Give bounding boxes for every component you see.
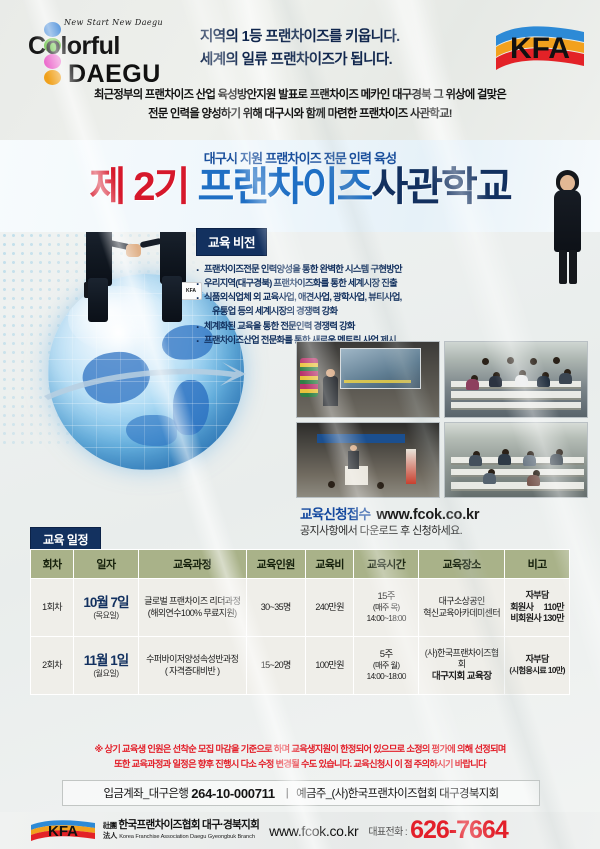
poster-footer: KFA 社團한국프랜차이즈협회 대구·경북지회 法人Korea Franchis… [0,812,600,849]
vision-item-continuation: 유통업 등의 세계시장의 경쟁력 강화 [196,304,536,318]
cell-note: 자부담 (시험응시료 10만) [505,637,570,695]
bank-account-box: 입금계좌_대구은행 264-10-000711 | 예금주_(사)한국프랜차이즈… [62,780,540,806]
course-line-2: (해외연수100% 무료지원) [142,608,243,620]
slogan-line-2: 세계의 일류 프랜차이즈가 됩니다. [200,49,490,72]
cell-fee: 240만원 [305,579,354,637]
photo-lecture-speaker [296,341,440,418]
col-round: 회차 [31,550,74,579]
time-hours: 14:00~18:00 [357,672,415,683]
place-line-2-text: 대구지회 교육장 [432,671,492,682]
cell-round: 2회차 [31,637,74,695]
slogan-line-1: 지역의 1등 프랜차이즈를 키웁니다. [200,26,490,49]
poster-root: New Start New Daegu Colorful DAEGU KFA 지… [0,0,600,849]
cell-date: 11월 1일 (월요일) [74,637,139,695]
education-vision-block: 교육 비전 프랜차이즈전문 인력양성을 통한 완벽한 시스템 구현방안 우리지역… [196,228,536,347]
footer-organization: 社團한국프랜차이즈협회 대구·경북지회 法人Korea Franchise As… [103,820,259,840]
note-line-2: 비회원사 130만 [508,613,566,625]
title-part-blue: 프랜차이즈 [197,165,371,209]
date-sub: (목요일) [77,611,135,622]
cell-fee: 100만원 [305,637,354,695]
svg-text:KFA: KFA [510,32,570,65]
cell-course: 수퍼바이저양성속성반과정 ( 자격증대비반 ) [138,637,246,695]
time-hours: 14:00~18:00 [357,614,415,625]
col-time: 교육시간 [354,550,419,579]
time-main: 15주 [357,591,415,603]
date-main: 10월 7일 [77,594,135,611]
bank-label: 입금계좌_대구은행 [103,785,188,801]
header-slogan: 지역의 1등 프랜차이즈를 키웁니다. 세계의 일류 프랜차이즈가 됩니다. [200,26,490,73]
notice-line-2: 또한 교육과정과 일정은 향후 진행시 다소 수정 변경될 수도 있습니다. 교… [24,757,576,772]
table-header-row: 회차 일자 교육과정 교육인원 교육비 교육시간 교육장소 비고 [31,550,570,579]
footer-org-korean: 社團한국프랜차이즈협회 대구·경북지회 [103,820,259,832]
colorful-daegu-logo: New Start New Daegu Colorful DAEGU [16,18,166,86]
note-main: 자부담 [508,654,566,666]
apply-note: 공지사항에서 다운로드 후 신청하세요. [300,522,462,538]
col-note: 비고 [505,550,570,579]
daegu-tagline: New Start New Daegu [64,18,163,27]
title-part-red: 제 2기 [89,165,188,209]
photo-classroom-wide [444,422,588,499]
apply-url[interactable]: www.fcok.co.kr [376,507,479,523]
vision-item: 우리지역(대구경북) 프랜차이즈화를 통한 세계시장 진출 [196,276,536,290]
daegu-logo-colorful: Colorful [28,32,120,61]
account-holder: 예금주_(사)한국프랜차이즈협회 대구경북지회 [296,785,498,801]
cell-note: 자부담 회원사 110만 비회원사 130만 [505,579,570,637]
place-line-1: 대구소상공인 [422,596,501,608]
note-line-1: (시험응시료 10만) [508,666,566,677]
footer-hanja-1: 社團 [103,821,116,830]
table-row: 1회차 10월 7일 (목요일) 글로벌 프랜차이즈 리더과정 (해외연수100… [31,579,570,637]
kfa-logo-footer-icon: KFA [30,818,96,844]
date-main: 11월 1일 [77,652,135,669]
vision-list: 프랜차이즈전문 인력양성을 통한 완벽한 시스템 구현방안 우리지역(대구경북)… [196,262,536,347]
place-line-2: 대구지회 교육장 [422,671,501,683]
place-line-2: 혁신교육아카데미센터 [422,608,501,620]
course-line-1: 글로벌 프랜차이즈 리더과정 [142,596,243,608]
date-sub: (월요일) [77,669,135,680]
cell-people: 15~20명 [246,637,305,695]
table-row: 2회차 11월 1일 (월요일) 수퍼바이저양성속성반과정 ( 자격증대비반 )… [31,637,570,695]
daegu-logo-daegu: DAEGU [68,60,161,89]
notice-text: ※ 상기 교육생 인원은 선착순 모집 마감을 기준으로 하며 교육생지원이 한… [24,742,576,772]
footer-org-en-text: Korea Franchise Association Daegu Gyeong… [119,834,255,840]
col-place: 교육장소 [419,550,505,579]
footer-url[interactable]: www.fcok.co.kr [269,823,358,839]
note-line-1: 회원사 110만 [508,602,566,614]
application-line: 교육신청접수www.fcok.co.kr [300,503,479,524]
schedule-table: 회차 일자 교육과정 교육인원 교육비 교육시간 교육장소 비고 1회차 10월… [30,549,570,695]
kfa-logo-icon: KFA [494,20,586,78]
svg-text:KFA: KFA [48,823,78,840]
footer-org-kr-text: 한국프랜차이즈협회 대구·경북지회 [118,819,259,831]
footer-org-english: 法人Korea Franchise Association Daegu Gyeo… [103,832,259,840]
cell-place: (사)한국프랜차이즈협회 대구지회 교육장 [419,637,505,695]
vision-item: 체계화된 교육을 통한 전문인력 경쟁력 강화 [196,319,536,333]
kfa-logo-header: KFA [494,20,586,78]
place-line-1: (사)한국프랜차이즈협회 [422,648,501,671]
footer-hanja-2: 法人 [103,831,117,840]
vision-item: 프랜차이즈전문 인력양성을 통한 완벽한 시스템 구현방안 [196,262,536,276]
cell-round: 1회차 [31,579,74,637]
col-fee: 교육비 [305,550,354,579]
cell-time: 5주 (매주 월) 14:00~18:00 [354,637,419,695]
header-lead-paragraph: 최근정부의 프랜차이즈 산업 육성방안지원 발표로 프랜차이즈 메카인 대구경북… [0,86,600,125]
poster-header: New Start New Daegu Colorful DAEGU KFA 지… [0,0,600,140]
cell-time: 15주 (매주 목) 14:00~18:00 [354,579,419,637]
footer-tel-label: 대표전화 : [368,823,407,838]
course-line-1: 수퍼바이저양성속성반과정 [142,654,243,666]
page-title: 제 2기 프랜차이즈사관학교 [0,166,600,209]
col-people: 교육인원 [246,550,305,579]
lead-line-2: 전문 인력을 양성하기 위해 대구시와 함께 마련한 프랜차이즈 사관학교! [0,105,600,124]
bank-account-number: 264-10-000711 [191,786,275,801]
arrow-swoosh-icon [40,356,250,402]
col-date: 일자 [74,550,139,579]
vision-item: 식품외식업체 외 교육사업, 애견사업, 광학사업, 뷰티사업, [196,290,536,304]
photo-opening-ceremony [296,422,440,499]
course-line-2: ( 자격증대비반 ) [142,666,243,678]
title-part-navy: 사관학교 [371,165,510,209]
footer-tel-number: 626-7664 [410,816,508,845]
time-weekday: (매주 월) [357,661,415,672]
col-course: 교육과정 [138,550,246,579]
time-main: 5주 [357,649,415,661]
photo-gallery [296,341,588,498]
cell-date: 10월 7일 (목요일) [74,579,139,637]
cell-people: 30~35명 [246,579,305,637]
cell-course: 글로벌 프랜차이즈 리더과정 (해외연수100% 무료지원) [138,579,246,637]
time-weekday: (매주 목) [357,603,415,614]
apply-label: 교육신청접수 [300,507,370,522]
note-main: 자부담 [508,590,566,602]
vision-badge: 교육 비전 [196,228,267,256]
account-separator: | [286,787,288,799]
notice-line-1: ※ 상기 교육생 인원은 선착순 모집 마감을 기준으로 하며 교육생지원이 한… [24,742,576,757]
cell-place: 대구소상공인 혁신교육아카데미센터 [419,579,505,637]
lead-line-1: 최근정부의 프랜차이즈 산업 육성방안지원 발표로 프랜차이즈 메카인 대구경북… [0,86,600,105]
photo-audience-front [444,341,588,418]
